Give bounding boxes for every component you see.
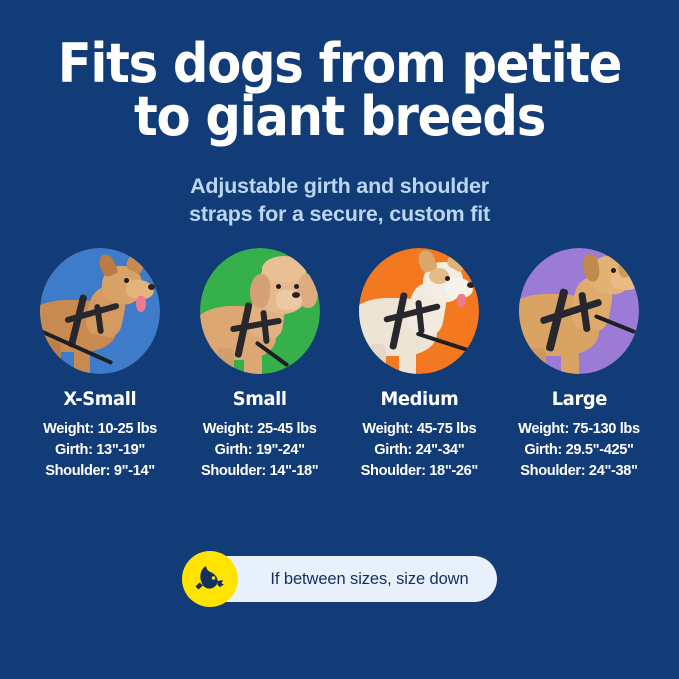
- dog-photo-small: [200, 248, 320, 374]
- size-column-large: Large Weight: 75-130 lbs Girth: 29.5"-42…: [503, 248, 655, 482]
- headline-line-2: to giant breeds: [27, 91, 652, 144]
- size-specs: Weight: 45-75 lbs Girth: 24"-34" Shoulde…: [361, 419, 478, 482]
- sizing-tip: If between sizes, size down: [0, 556, 679, 602]
- spec-girth: Girth: 29.5"-425": [518, 440, 640, 461]
- size-label: Medium: [380, 388, 458, 410]
- page-subtitle: Adjustable girth and shoulder straps for…: [0, 172, 679, 229]
- dog-illustration: [359, 248, 479, 374]
- spec-weight: Weight: 25-45 lbs: [201, 419, 318, 440]
- spec-weight: Weight: 75-130 lbs: [518, 419, 640, 440]
- infographic-page: Fits dogs from petite to giant breeds Ad…: [0, 0, 679, 679]
- subtitle-line-1: Adjustable girth and shoulder: [190, 174, 489, 198]
- size-chart: X-Small Weight: 10-25 lbs Girth: 13"-19"…: [24, 248, 655, 482]
- spec-shoulder: Shoulder: 24"-38": [518, 461, 640, 482]
- subtitle-line-2: straps for a secure, custom fit: [0, 200, 679, 228]
- dog-photo-large: [519, 248, 639, 374]
- size-specs: Weight: 10-25 lbs Girth: 13"-19" Shoulde…: [43, 419, 157, 482]
- spec-shoulder: Shoulder: 14"-18": [201, 461, 318, 482]
- spec-weight: Weight: 10-25 lbs: [43, 419, 157, 440]
- dog-illustration: [519, 248, 639, 374]
- dog-illustration: [40, 248, 160, 374]
- size-column-small: Small Weight: 25-45 lbs Girth: 19"-24" S…: [184, 248, 336, 482]
- spec-girth: Girth: 19"-24": [201, 440, 318, 461]
- spec-girth: Girth: 13"-19": [43, 440, 157, 461]
- size-label: Small: [233, 388, 287, 410]
- size-specs: Weight: 25-45 lbs Girth: 19"-24" Shoulde…: [201, 419, 318, 482]
- page-title: Fits dogs from petite to giant breeds: [27, 38, 652, 144]
- sizing-tip-pill: If between sizes, size down: [204, 556, 496, 602]
- size-specs: Weight: 75-130 lbs Girth: 29.5"-425" Sho…: [518, 419, 640, 482]
- size-column-medium: Medium Weight: 45-75 lbs Girth: 24"-34" …: [343, 248, 495, 482]
- dog-head-icon: [182, 551, 238, 607]
- size-label: Large: [551, 388, 606, 410]
- dog-photo-x-small: [40, 248, 160, 374]
- size-column-x-small: X-Small Weight: 10-25 lbs Girth: 13"-19"…: [24, 248, 176, 482]
- dog-photo-medium: [359, 248, 479, 374]
- spec-girth: Girth: 24"-34": [361, 440, 478, 461]
- size-label: X-Small: [64, 388, 137, 410]
- dog-illustration: [200, 248, 320, 374]
- sizing-tip-text: If between sizes, size down: [270, 570, 468, 589]
- spec-weight: Weight: 45-75 lbs: [361, 419, 478, 440]
- spec-shoulder: Shoulder: 18"-26": [361, 461, 478, 482]
- spec-shoulder: Shoulder: 9"-14": [43, 461, 157, 482]
